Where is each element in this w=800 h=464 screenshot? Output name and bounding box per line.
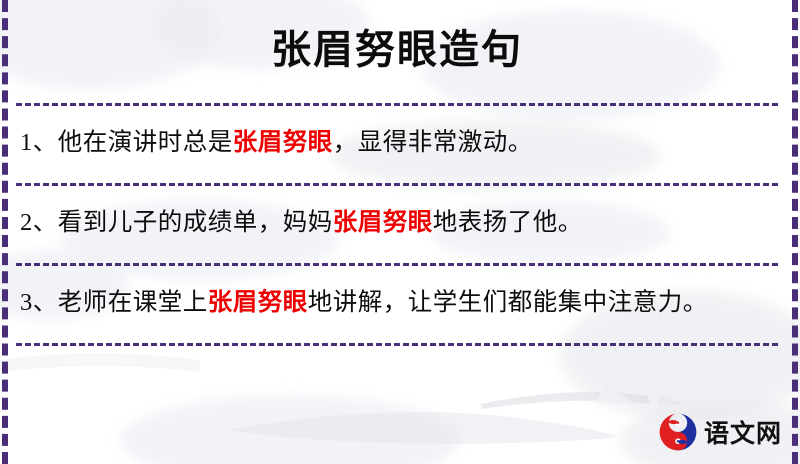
page-title: 张眉努眼造句	[16, 0, 778, 70]
sentence-2-keyword: 张眉努眼	[333, 209, 433, 236]
sentence-1-after: ，显得非常激动。	[333, 129, 533, 156]
sentence-item-2: 2、看到儿子的成绩单，妈妈张眉努眼地表扬了他。	[16, 186, 778, 243]
sentence-2-before: 看到儿子的成绩单，妈妈	[58, 209, 333, 236]
sentence-item-3: 3、老师在课堂上张眉努眼地讲解，让学生们都能集中注意力。	[16, 266, 778, 323]
site-logo-text: 语文网	[704, 414, 782, 450]
sentence-1-number: 1、	[20, 129, 58, 156]
sentence-2-after: 地表扬了他。	[433, 209, 583, 236]
sentence-3-keyword: 张眉努眼	[208, 289, 308, 316]
sentence-3-after: 地讲解，让学生们都能集中注意力。	[308, 289, 708, 316]
divider-4	[16, 343, 778, 346]
worksheet-page: 张眉努眼造句 1、他在演讲时总是张眉努眼，显得非常激动。 2、看到儿子的成绩单，…	[0, 0, 800, 464]
sentence-2-number: 2、	[20, 209, 58, 236]
yin-yang-fish-icon	[658, 412, 698, 452]
sentence-item-1: 1、他在演讲时总是张眉努眼，显得非常激动。	[16, 106, 778, 163]
sentence-3-number: 3、	[20, 289, 58, 316]
site-logo[interactable]: 语文网	[658, 412, 782, 452]
content-column: 张眉努眼造句 1、他在演讲时总是张眉努眼，显得非常激动。 2、看到儿子的成绩单，…	[0, 0, 800, 464]
sentence-3-before: 老师在课堂上	[58, 289, 208, 316]
sentence-1-before: 他在演讲时总是	[58, 129, 233, 156]
sentence-1-keyword: 张眉努眼	[233, 129, 333, 156]
